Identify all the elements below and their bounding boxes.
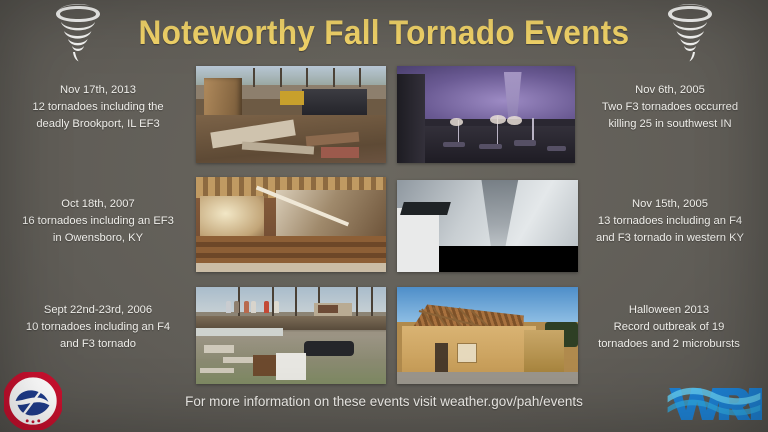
event-detail-line-2: and F3 tornado: [0, 336, 196, 353]
event-caption-sept-22-23-2006: Sept 22nd-23rd, 2006 10 tornadoes includ…: [0, 302, 196, 353]
event-detail-line-1: 13 tornadoes including an F4: [572, 213, 768, 230]
photo-destroyed-home-foundation: [196, 287, 386, 384]
photo-gray-funnel-cloud: [397, 180, 578, 272]
event-caption-nov-6-2005: Nov 6th, 2005 Two F3 tornadoes occurred …: [572, 82, 768, 133]
event-detail-line-2: in Owensboro, KY: [0, 230, 196, 247]
event-detail-line-2: tornadoes and 2 microbursts: [569, 336, 768, 353]
tornado-icon-left: [50, 4, 106, 62]
footer-info-text: For more information on these events vis…: [0, 394, 768, 409]
photo-collapsed-church-interior: [196, 177, 386, 272]
event-date: Halloween 2013: [569, 302, 768, 319]
event-caption-nov-15-2005: Nov 15th, 2005 13 tornadoes including an…: [572, 196, 768, 247]
national-weather-service-logo: [4, 372, 62, 430]
page-title: Noteworthy Fall Tornado Events: [139, 14, 630, 53]
event-detail-line-1: Two F3 tornadoes occurred: [572, 99, 768, 116]
tornado-events-poster: Noteworthy Fall Tornado Events Nov 17th,…: [0, 0, 768, 432]
event-date: Nov 15th, 2005: [572, 196, 768, 213]
photo-night-tornado-lightning: [397, 66, 575, 163]
event-detail-line-1: 16 tornadoes including an EF3: [0, 213, 196, 230]
event-caption-halloween-2013: Halloween 2013 Record outbreak of 19 tor…: [569, 302, 768, 353]
event-detail-line-2: killing 25 in southwest IN: [572, 116, 768, 133]
photo-damaged-building-roof-trusses: [397, 287, 578, 384]
event-detail-line-1: Record outbreak of 19: [569, 319, 768, 336]
event-date: Nov 17th, 2013: [0, 82, 196, 99]
event-detail-line-1: 12 tornadoes including the: [0, 99, 196, 116]
weather-ready-nation-logo: [666, 380, 762, 424]
photo-tornado-damage-debris: [196, 66, 386, 163]
event-caption-oct-18-2007: Oct 18th, 2007 16 tornadoes including an…: [0, 196, 196, 247]
event-detail-line-2: and F3 tornado in western KY: [572, 230, 768, 247]
event-date: Oct 18th, 2007: [0, 196, 196, 213]
event-date: Nov 6th, 2005: [572, 82, 768, 99]
poster-header: Noteworthy Fall Tornado Events: [0, 2, 768, 64]
event-date: Sept 22nd-23rd, 2006: [0, 302, 196, 319]
event-caption-nov-17-2013: Nov 17th, 2013 12 tornadoes including th…: [0, 82, 196, 133]
event-detail-line-2: deadly Brookport, IL EF3: [0, 116, 196, 133]
tornado-icon-right: [662, 4, 718, 62]
event-detail-line-1: 10 tornadoes including an F4: [0, 319, 196, 336]
